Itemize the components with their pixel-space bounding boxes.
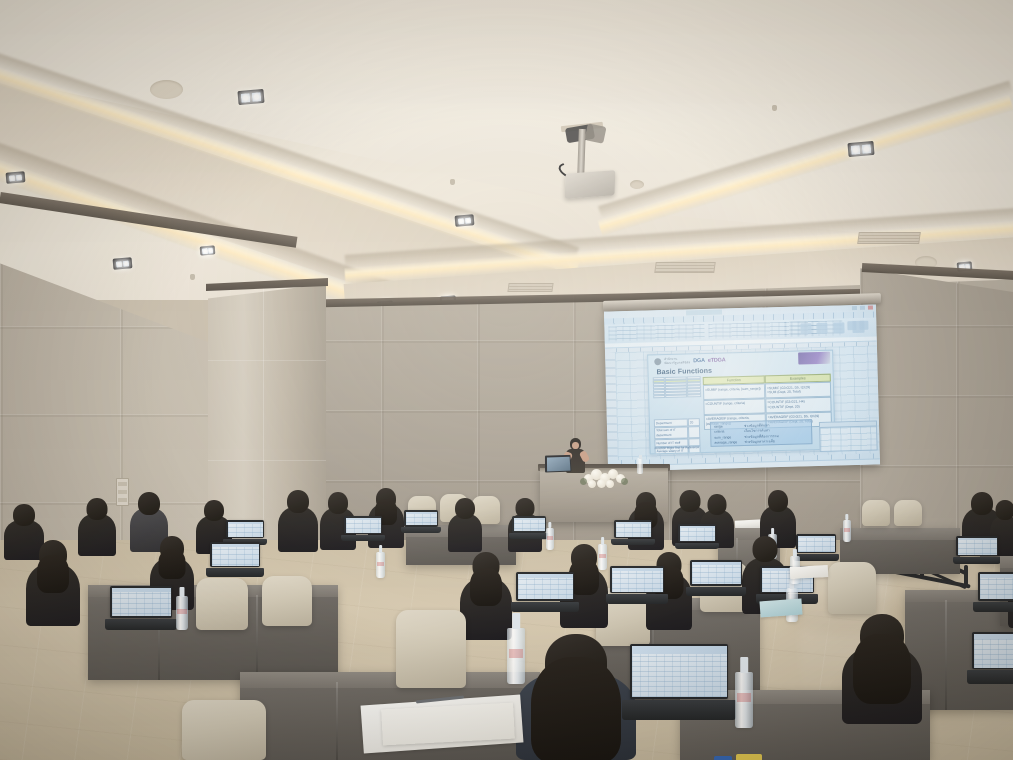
water-bottle[interactable]: [546, 528, 554, 550]
attendee-laptop-foreground[interactable]: [630, 644, 728, 720]
handout-page[interactable]: [790, 565, 829, 579]
water-bottle-foreground[interactable]: [507, 628, 525, 684]
example-line: =COUNTIF (Dept, 20): [767, 405, 799, 410]
attendee-laptop[interactable]: [344, 516, 382, 541]
legend-row: average_rangeช่วงข้อมูลหาค่าเฉลี่ย: [714, 438, 808, 446]
sprinkler-head-1: [450, 179, 455, 185]
ceiling: [0, 0, 1013, 300]
attendee-foreground: [516, 634, 636, 760]
slide-logo-group: สำนักงานพัฒนารัฐบาลดิจิทัล DGA eTDGA: [654, 356, 725, 365]
attendee-laptop[interactable]: [404, 510, 438, 533]
chair[interactable]: [182, 700, 266, 760]
ceiling-spotlight-5: [455, 214, 475, 227]
ceiling-air-vent-1: [654, 262, 716, 273]
chair[interactable]: [862, 500, 890, 526]
handout-booklet[interactable]: [759, 599, 802, 618]
ceiling-spotlight-6: [847, 141, 874, 157]
attendee-laptop[interactable]: [956, 536, 998, 564]
attendee-laptop[interactable]: [796, 534, 836, 561]
dga-logo-text: DGA: [693, 357, 705, 363]
conference-room-photo: สำนักงานพัฒนารัฐบาลดิจิทัล DGA eTDGA Bas…: [0, 0, 1013, 760]
ceiling-spotlight-2: [6, 171, 26, 184]
legend-desc: ช่วงข้อมูลหาค่าเฉลี่ย: [744, 439, 775, 445]
cell-example-sumif: =SUMIF (G3:G21, D5, I3:I29) =SUM (Dept, …: [765, 382, 831, 399]
ceiling-air-vent-3: [507, 283, 553, 292]
water-bottle[interactable]: [376, 552, 385, 578]
org-logo-icon: [654, 358, 661, 365]
attendee: [78, 498, 116, 556]
cell-example-countif: =COUNTIF (G3:G21, H4) =COUNTIF (Dept, 20…: [765, 397, 831, 414]
projection-screen: สำนักงานพัฒนารัฐบาลดิจิทัล DGA eTDGA Bas…: [604, 304, 880, 471]
attendee-laptop[interactable]: [512, 516, 546, 539]
projector-mount-bracket: [584, 123, 606, 144]
pillar-seam-1: [208, 360, 326, 361]
attendee-laptop[interactable]: [610, 566, 664, 604]
legend-key: average_range: [714, 440, 740, 446]
attendee-laptop[interactable]: [972, 632, 1013, 684]
attendee-foreground-right: [842, 614, 922, 724]
pillar-seam-2: [208, 460, 326, 461]
ceiling-sensor: [630, 180, 644, 189]
chair[interactable]: [828, 562, 876, 614]
chair[interactable]: [396, 610, 466, 688]
window-controls[interactable]: [852, 306, 873, 311]
ceiling-spotlight-4: [200, 245, 216, 255]
ceiling-spotlight-3: [113, 257, 133, 270]
attendee-laptop[interactable]: [614, 520, 652, 545]
slide-legend-box: rangeช่วงข้อมูลที่ค้นหา criteriaเงื่อนไข…: [710, 419, 813, 447]
slide-heading: Basic Functions: [656, 368, 712, 376]
slide-content-card: สำนักงานพัฒนารัฐบาลดิจิทัล DGA eTDGA Bas…: [647, 350, 836, 455]
flower-arrangement: [580, 466, 628, 488]
ceiling-air-vent-2: [857, 232, 921, 244]
org-logo-text: สำนักงานพัฒนารัฐบาลดิจิทัล: [664, 358, 690, 365]
podium-water-bottle: [637, 458, 643, 474]
attendee-laptop[interactable]: [210, 542, 260, 577]
sticky-marker[interactable]: [736, 754, 762, 760]
water-bottle[interactable]: [176, 596, 188, 630]
attendee: [26, 540, 80, 626]
sprinkler-head-3: [190, 274, 195, 280]
attendee: [448, 498, 482, 552]
presenter-laptop: [545, 455, 572, 473]
water-bottle[interactable]: [843, 520, 851, 542]
handout-inner-page: [381, 703, 515, 746]
cell-function-countif: =COUNTIF (range, criteria): [703, 398, 765, 414]
slide-corner-badge: [798, 352, 830, 365]
ceiling-spotlight-1: [237, 89, 264, 105]
usb-dongle[interactable]: [714, 756, 732, 760]
excel-title-text: [686, 309, 722, 315]
attendee-laptop[interactable]: [678, 524, 716, 549]
attendee-laptop[interactable]: [690, 560, 742, 596]
chair[interactable]: [894, 500, 922, 526]
chair[interactable]: [262, 576, 312, 626]
attendee-laptop[interactable]: [978, 572, 1013, 612]
water-bottle[interactable]: [598, 544, 607, 570]
attendee: [278, 490, 318, 552]
example-line: =SUMIF (G3:G21, D5, I3:I29): [767, 385, 810, 390]
etdga-logo-text: eTDGA: [708, 357, 726, 363]
wall-light-switch[interactable]: [116, 478, 129, 506]
example-line: =SUM (Dept, 20, Total): [767, 390, 801, 395]
attendee-laptop[interactable]: [516, 572, 574, 612]
excel-floating-panel[interactable]: [819, 420, 878, 452]
projector-icon: [565, 170, 616, 199]
slide-side-data-table: [653, 376, 702, 398]
presenter-face: [572, 442, 579, 449]
attendee: [460, 552, 512, 640]
cell-function-sumif: =SUMIF (range, criteria, [sum_range]): [703, 383, 765, 399]
sprinkler-head-2: [772, 105, 777, 111]
attendee-laptop[interactable]: [110, 586, 172, 630]
ceiling-speaker-dome: [150, 80, 183, 99]
chair[interactable]: [196, 578, 248, 630]
water-bottle-foreground[interactable]: [735, 672, 753, 728]
stat-label-1: Total sum of IT department: [654, 426, 688, 439]
stat-value-1: [688, 426, 700, 439]
